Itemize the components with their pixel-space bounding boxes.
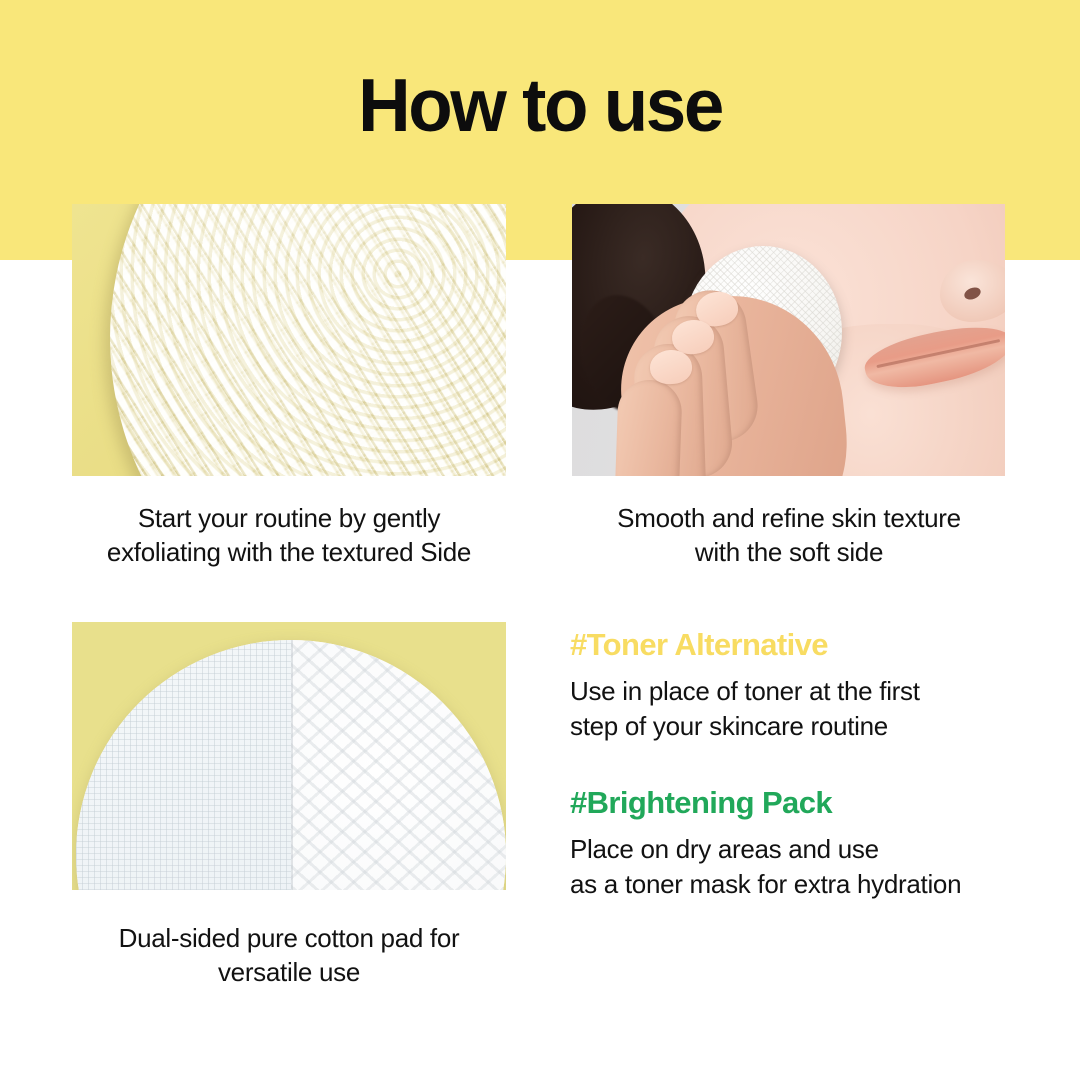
brightening-pack-heading: #Brightening Pack	[570, 786, 1018, 820]
step-2-image-soft-side-on-face	[572, 204, 1005, 476]
use-block-brightening-pack: #Brightening Pack Place on dry areas and…	[570, 786, 1018, 902]
dual-sided-cotton-pad	[76, 640, 506, 890]
textured-cotton-pad	[110, 204, 506, 476]
step-3-image-dual-sided-pad	[72, 622, 506, 890]
step-1-image-textured-side	[72, 204, 506, 476]
pad-seam	[291, 640, 293, 890]
finger-little	[613, 379, 683, 476]
toner-alternative-heading: #Toner Alternative	[570, 628, 1018, 662]
pad-mesh-side	[76, 640, 291, 890]
step-3-caption: Dual-sided pure cotton pad for versatile…	[60, 922, 518, 990]
use-block-toner-alternative: #Toner Alternative Use in place of toner…	[570, 628, 1018, 744]
brightening-pack-body: Place on dry areas and use as a toner ma…	[570, 832, 1018, 902]
how-to-use-infographic: How to use Start your routine by	[0, 0, 1080, 1080]
use-suggestions-column: #Toner Alternative Use in place of toner…	[570, 628, 1018, 902]
toner-alternative-body: Use in place of toner at the first step …	[570, 674, 1018, 744]
step-1-caption: Start your routine by gently exfoliating…	[60, 502, 518, 570]
page-title: How to use	[16, 68, 1064, 143]
pad-embossed-side	[291, 640, 506, 890]
step-2-caption: Smooth and refine skin texture with the …	[560, 502, 1018, 570]
